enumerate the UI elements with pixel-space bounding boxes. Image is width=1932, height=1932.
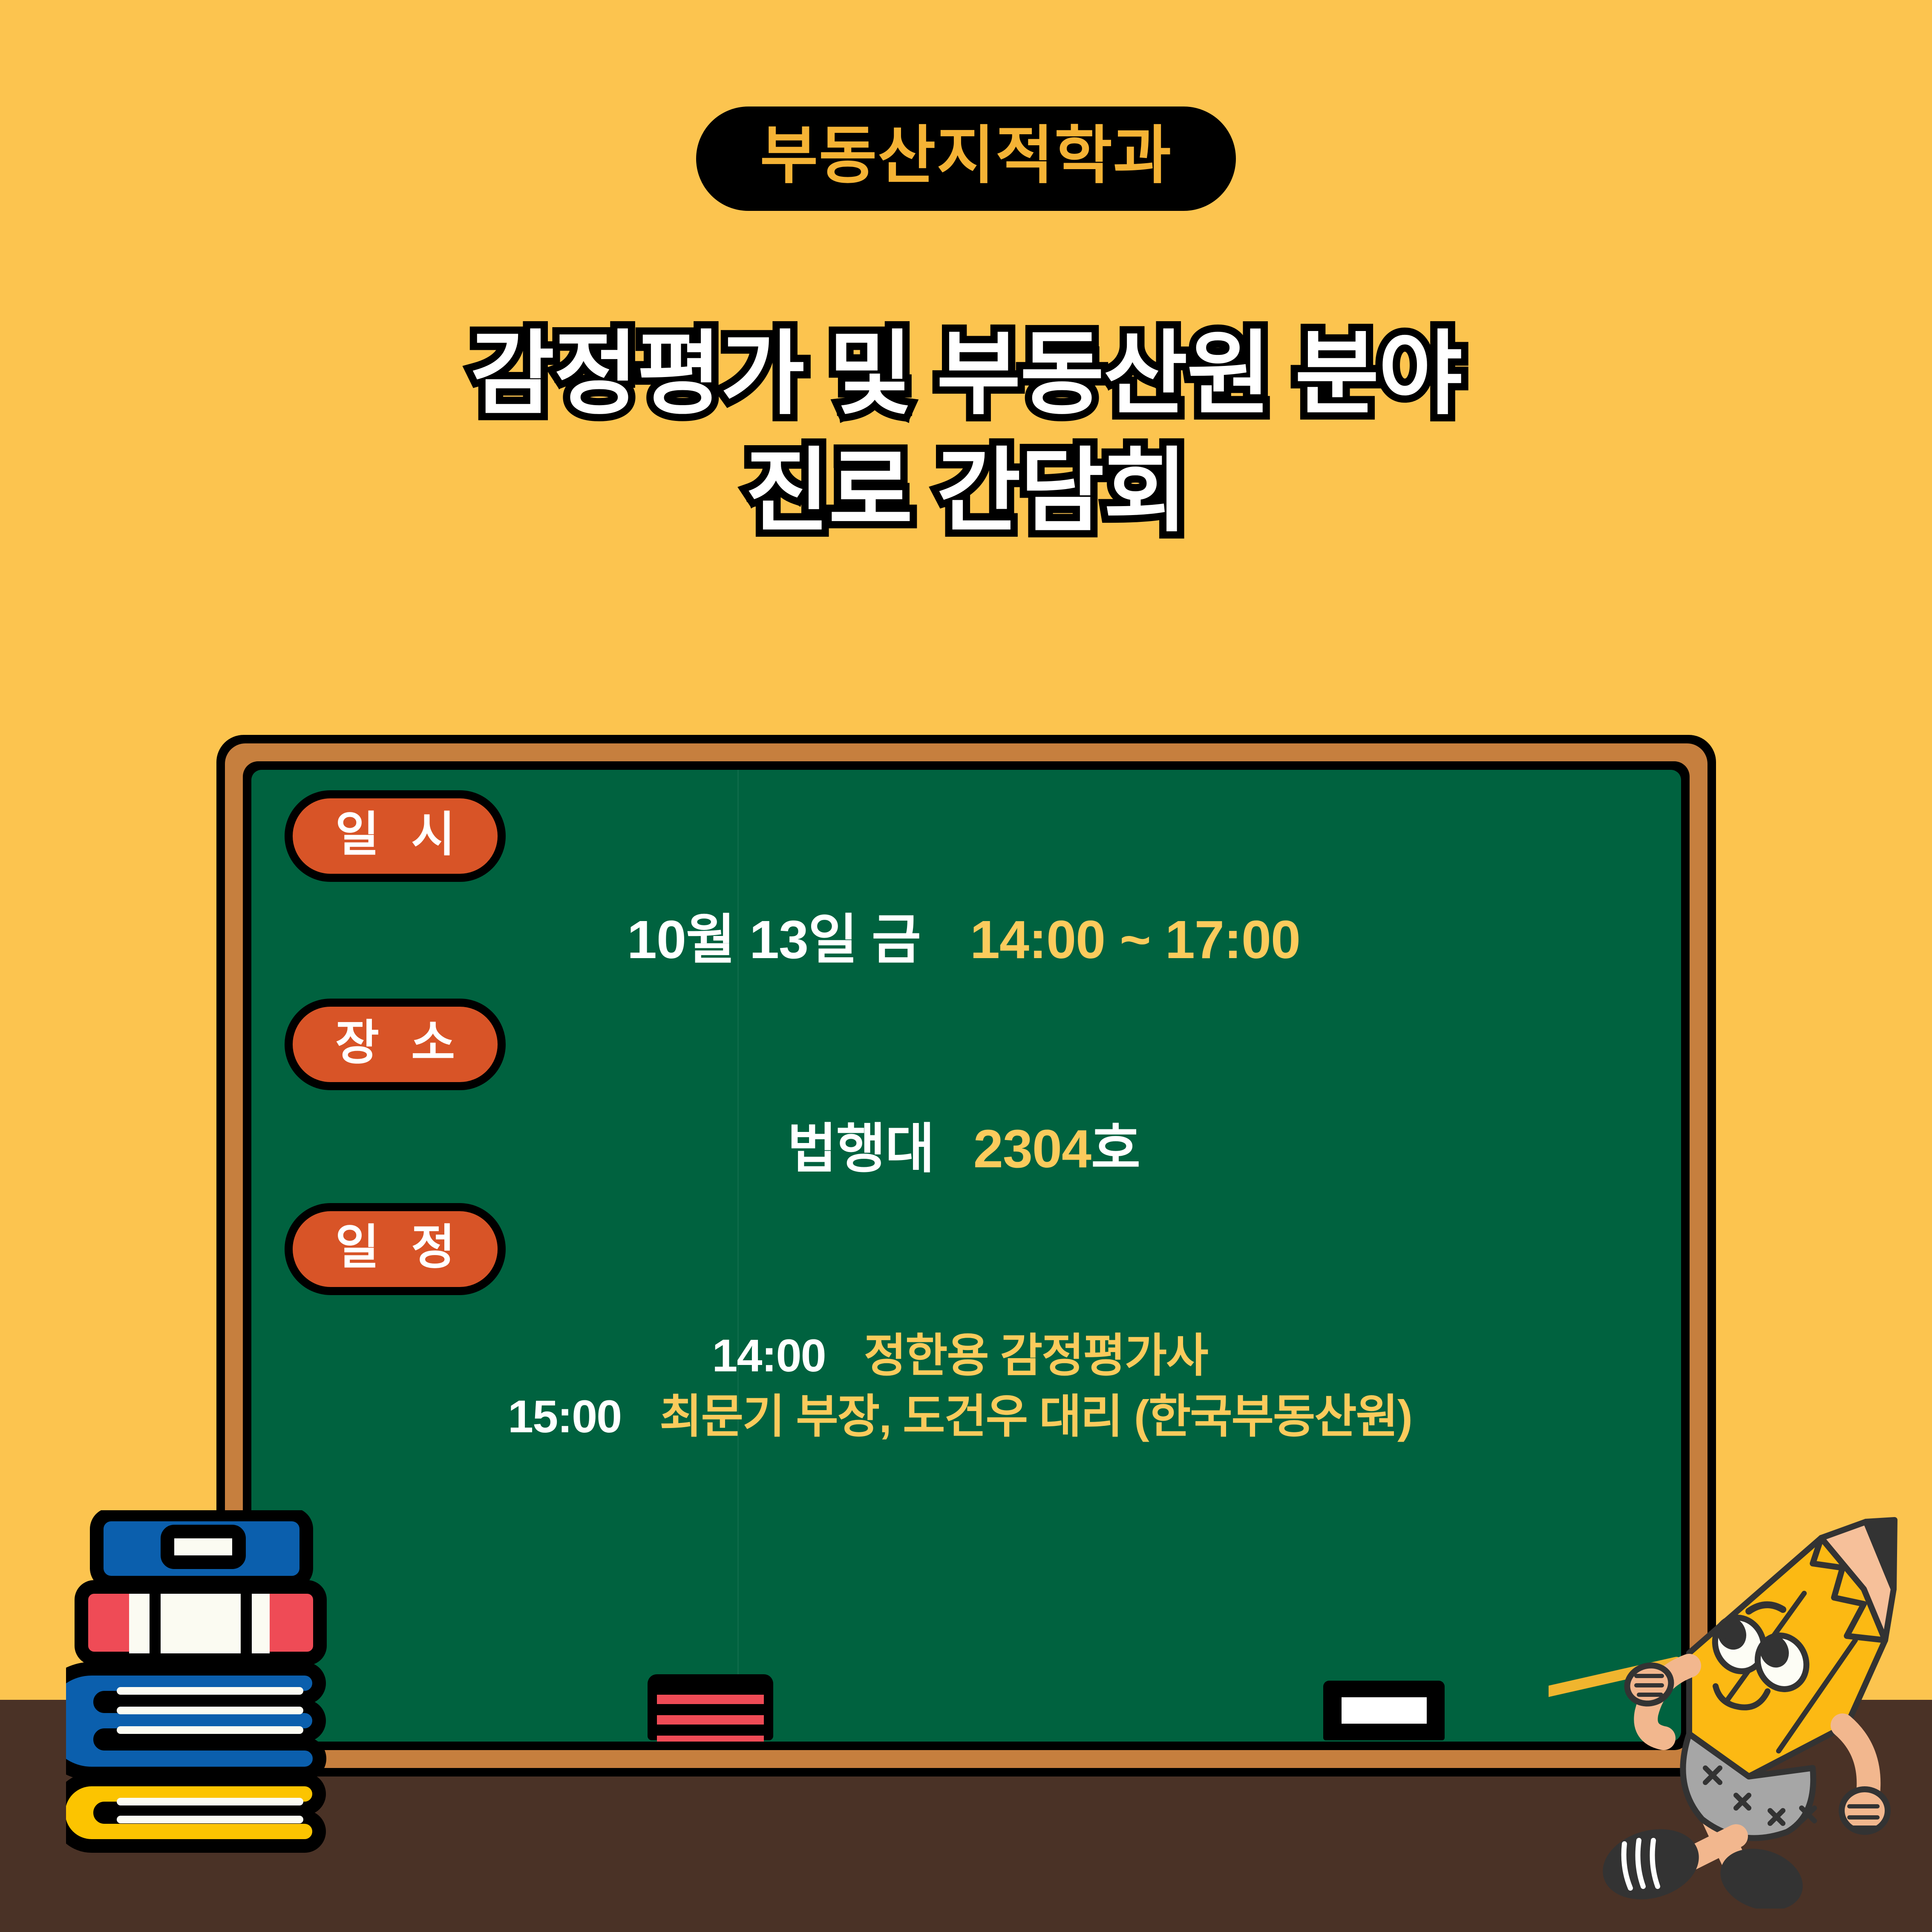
schedule-list: 14:00 정한용 감정평가사 15:00 최문기 부장, 도건우 대리 (한국… [277,1325,1643,1447]
chalkboard-content: 일 시 10월 13일 금 14:00 ~ 17:00 장 소 법행대 [251,770,1681,1742]
chalkboard-surface: 일 시 10월 13일 금 14:00 ~ 17:00 장 소 법행대 [251,770,1681,1742]
schedule-item: 14:00 정한용 감정평가사 [277,1325,1643,1386]
schedule-time: 14:00 [712,1330,825,1381]
value-location: 법행대 2304호 [285,1117,1643,1181]
department-badge-container: 부동산지적학과 [0,107,1932,211]
department-badge: 부동산지적학과 [696,107,1236,211]
schedule-detail: 정한용 감정평가사 [864,1330,1208,1381]
info-row-datetime: 일 시 10월 13일 금 14:00 ~ 17:00 [285,790,1643,972]
title-line-2: 진로 간담회 [0,432,1932,550]
label-pill-location: 장 소 [285,999,506,1090]
info-row-schedule: 일 정 [285,1203,1643,1295]
poster-canvas: 부동산지적학과 감정평가 및 부동산원 분야 진로 간담회 일 시 10월 13… [0,0,1932,1932]
value-datetime: 10월 13일 금 14:00 ~ 17:00 [285,907,1643,972]
page-title: 감정평가 및 부동산원 분야 진로 간담회 [0,315,1932,550]
eraser-icon [648,1674,773,1740]
chalkboard: 일 시 10월 13일 금 14:00 ~ 17:00 장 소 법행대 [216,735,1716,1777]
location-suffix: 호 [1091,1119,1140,1179]
schedule-item: 15:00 최문기 부장, 도건우 대리 (한국부동산원) [277,1386,1643,1447]
title-line-1: 감정평가 및 부동산원 분야 [0,315,1932,432]
info-row-location: 장 소 법행대 2304호 [285,999,1643,1181]
schedule-time: 15:00 [508,1391,621,1442]
schedule-detail: 최문기 부장, 도건우 대리 (한국부동산원) [659,1391,1412,1442]
pencil-mascot-icon [1549,1512,1906,1909]
date-text: 10월 13일 금 [627,910,921,970]
books-illustration [66,1510,339,1885]
chalkboard-wood-frame: 일 시 10월 13일 금 14:00 ~ 17:00 장 소 법행대 [225,743,1707,1768]
location-prefix: 법행대 [787,1119,934,1179]
label-pill-datetime: 일 시 [285,790,506,882]
chalkboard-inner-border: 일 시 10월 13일 금 14:00 ~ 17:00 장 소 법행대 [243,761,1690,1750]
label-pill-schedule: 일 정 [285,1203,506,1295]
chalk-icon [1323,1681,1445,1740]
room-number: 2304 [973,1119,1091,1179]
time-range-text: 14:00 ~ 17:00 [970,910,1300,970]
